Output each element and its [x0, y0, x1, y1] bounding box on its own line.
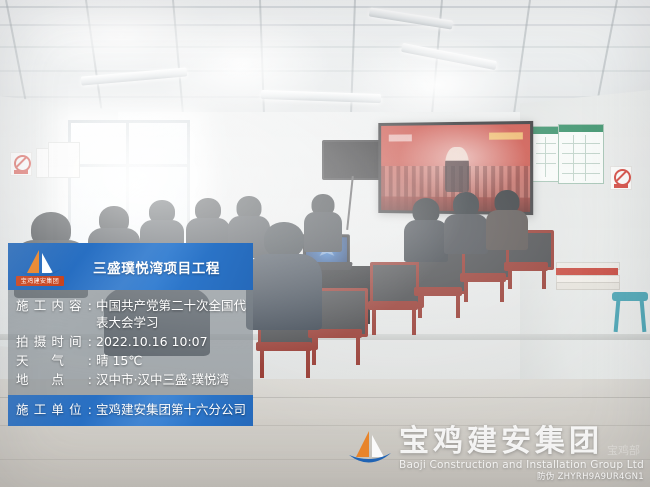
overlay-footer: 施 工 单 位 : 宝鸡建安集团第十六分公司: [8, 395, 253, 426]
plastic-stool: [612, 292, 648, 332]
info-row-construction-unit: 施 工 单 位 : 宝鸡建安集团第十六分公司: [16, 400, 247, 419]
info-value: 晴 15℃: [92, 352, 247, 369]
info-value: 2022.10.16 10:07: [92, 333, 247, 350]
overlay-body: 施 工 内 容 : 中国共产党第二十次全国代表大会学习 拍 摄 时 间 : 20…: [8, 290, 253, 395]
notice-poster: [48, 142, 80, 178]
safety-info-board: [558, 124, 604, 184]
info-label: 施 工 单 位 :: [16, 401, 92, 418]
person: [486, 190, 528, 250]
ghost-stamp: 宝鸡部: [607, 445, 640, 457]
sail-boat-logo-icon: 宝鸡建安集团: [12, 247, 68, 287]
info-value: 中国共产党第二十次全国代表大会学习: [92, 297, 247, 331]
info-label: 地 点 :: [16, 371, 92, 388]
logo-wordmark: 宝鸡建安集团: [16, 276, 64, 286]
info-value: 宝鸡建安集团第十六分公司: [92, 401, 247, 418]
logo-wordmark-text: 宝鸡建安集团: [21, 276, 59, 285]
info-row-construction-content: 施 工 内 容 : 中国共产党第二十次全国代表大会学习: [8, 296, 253, 332]
screenshot-root: 宝鸡建安集团 三盛璞悦湾项目工程 施 工 内 容 : 中国共产党第二十次全国代表…: [0, 0, 650, 487]
info-label: 天 气 :: [16, 352, 92, 369]
no-smoking-sign: [610, 166, 632, 190]
page-title: 三盛璞悦湾项目工程: [68, 257, 253, 277]
photo-info-overlay: 宝鸡建安集团 三盛璞悦湾项目工程 施 工 内 容 : 中国共产党第二十次全国代表…: [8, 243, 253, 426]
info-label: 拍 摄 时 间 :: [16, 333, 92, 350]
stacked-boxes: [556, 262, 618, 288]
ceiling-light: [261, 90, 381, 103]
person: [246, 222, 322, 330]
wall-tv: [322, 140, 382, 180]
person: [404, 198, 448, 262]
person: [444, 192, 488, 254]
info-label: 施 工 内 容 :: [16, 297, 92, 314]
info-value: 汉中市·汉中三盛·璞悦湾: [92, 371, 247, 388]
overlay-header: 宝鸡建安集团 三盛璞悦湾项目工程: [8, 243, 253, 290]
info-row-weather: 天 气 : 晴 15℃: [8, 351, 253, 370]
safety-info-board: [532, 126, 560, 182]
info-row-location: 地 点 : 汉中市·汉中三盛·璞悦湾: [8, 370, 253, 389]
info-row-capture-time: 拍 摄 时 间 : 2022.10.16 10:07: [8, 332, 253, 351]
chair: [370, 262, 418, 334]
no-smoking-sign: [10, 152, 32, 176]
